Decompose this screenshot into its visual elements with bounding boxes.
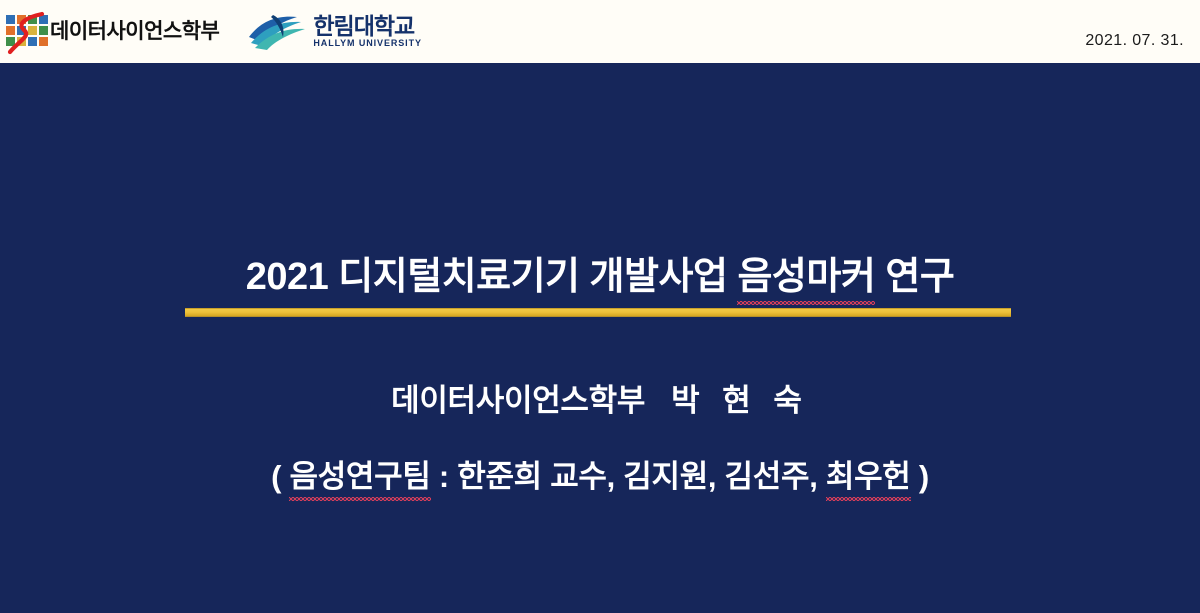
dept-name-label: 데이터사이언스학부 — [50, 21, 219, 42]
team-open-paren: ( — [271, 459, 289, 494]
university-name-en: HALLYM UNIVERSITY — [313, 39, 421, 49]
university-name-kr: 한림대학교 — [313, 14, 421, 38]
hallym-wave-icon — [247, 11, 309, 53]
presentation-slide: 데이터사이언스학부 한림대학교 HALLYM UNIVERSITY 202 — [0, 0, 1200, 613]
title-spellcheck-term: 음성마커 — [737, 245, 875, 300]
title-suffix: 연구 — [875, 256, 954, 298]
team-label-spellcheck-term: 음성연구팀 — [289, 451, 430, 496]
title-divider-rule — [185, 308, 1011, 317]
hallym-university-logo: 한림대학교 HALLYM UNIVERSITY — [247, 11, 421, 53]
team-close-paren: ) — [911, 459, 929, 494]
author-name: 박 현 숙 — [671, 383, 809, 418]
title-prefix: 2021 디지털치료기기 개발사업 — [246, 256, 738, 298]
author-line: 데이터사이언스학부박 현 숙 — [0, 375, 1200, 420]
slide-title: 2021 디지털치료기기 개발사업 음성마커 연구 — [0, 245, 1200, 300]
slide-body: 2021 디지털치료기기 개발사업 음성마커 연구 데이터사이언스학부박 현 숙… — [0, 63, 1200, 613]
hallym-text-block: 한림대학교 HALLYM UNIVERSITY — [313, 14, 421, 48]
logo-group: 데이터사이언스학부 한림대학교 HALLYM UNIVERSITY — [0, 0, 422, 63]
slide-header-bar: 데이터사이언스학부 한림대학교 HALLYM UNIVERSITY 202 — [0, 0, 1200, 63]
team-line: ( 음성연구팀 : 한준희 교수, 김지원, 김선주, 최우헌 ) — [0, 451, 1200, 496]
team-member-spellcheck-term: 최우헌 — [826, 451, 911, 496]
author-affiliation: 데이터사이언스학부 — [391, 383, 645, 418]
slide-date: 2021. 07. 31. — [1085, 32, 1184, 50]
team-members: : 한준희 교수, 김지원, 김선주, — [431, 459, 826, 494]
mosaic-s-logo-icon — [4, 11, 52, 55]
